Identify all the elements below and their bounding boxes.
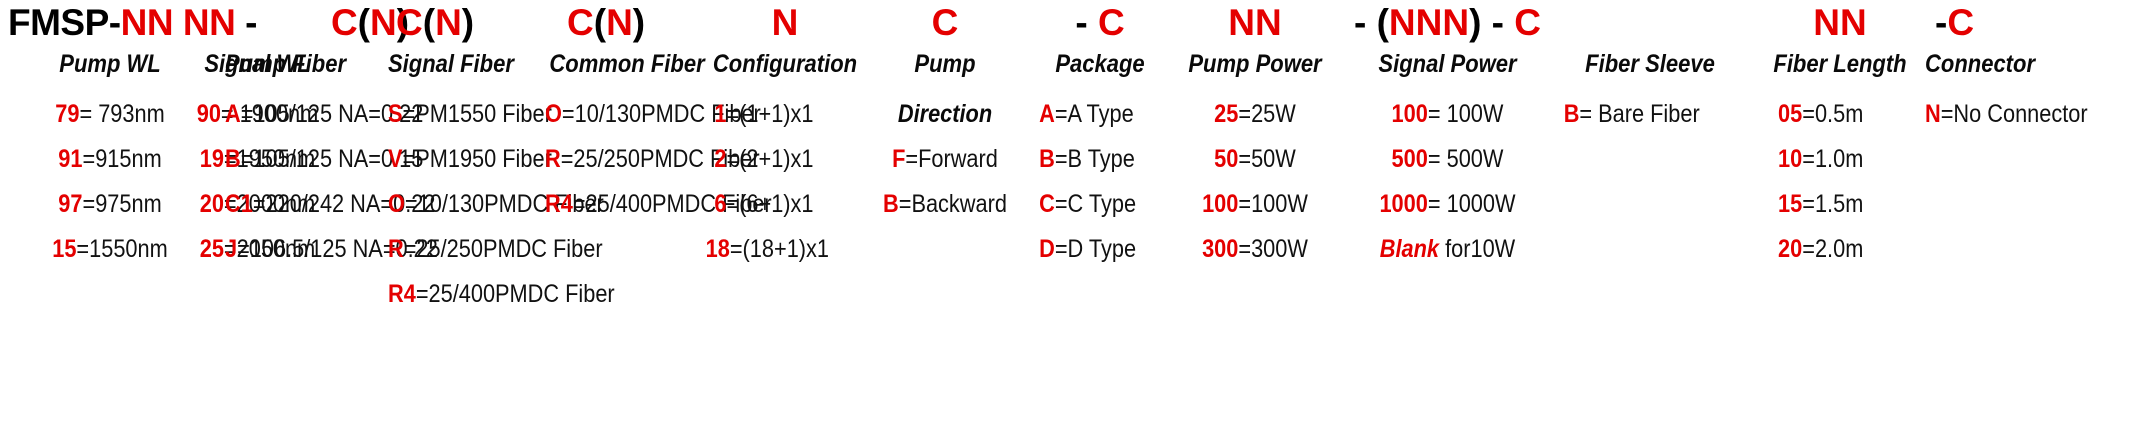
code-connector: -C (1925, 2, 2139, 44)
column-pump: C Pump Direction F=Forward B=Backward (855, 0, 1035, 427)
option-row[interactable]: 97=975nm (40, 182, 179, 227)
option-row[interactable]: 05=0.5m (1745, 92, 1910, 137)
option-row[interactable]: 100= 100W (1354, 92, 1541, 137)
options-connector: N=No Connector (1925, 92, 2139, 137)
option-row[interactable]: 15=1.5m (1745, 182, 1910, 227)
header-fiber-length: Fiber Length (1756, 50, 1923, 78)
part-number-ordering-chart: FMSP-NN NN - Pump WL 79= 793nm 91=915nm … (0, 0, 2139, 427)
options-pump-wl: 79= 793nm 91=915nm 97=975nm 15=1550nm (30, 92, 190, 272)
options-signal-power: 100= 100W 500= 500W 1000= 1000W Blank fo… (1340, 92, 1555, 272)
options-package: A=A Type B=B Type C=C Type D=D Type (1020, 92, 1180, 272)
header-pump: Pump (866, 50, 1024, 78)
column-pump-wl: Pump WL 79= 793nm 91=915nm 97=975nm 15=1… (30, 0, 190, 427)
header-pump-power: Pump Power (1176, 50, 1334, 78)
option-row[interactable]: F=Forward (867, 137, 1024, 182)
option-row[interactable]: A=A Type (1020, 92, 1159, 137)
code-pump-power: NN (1165, 2, 1345, 44)
header-connector: Connector (1925, 50, 2113, 78)
option-row[interactable]: 91=915nm (40, 137, 179, 182)
header-package: Package (1030, 50, 1171, 78)
option-row[interactable]: B= Bare Fiber (1555, 92, 1720, 137)
code-package: - C (1020, 2, 1180, 44)
options-fiber-length: 05=0.5m 10=1.0m 15=1.5m 20=2.0m (1745, 92, 1935, 272)
option-row[interactable]: 25=25W (1177, 92, 1334, 137)
option-row[interactable]: 20=2.0m (1745, 227, 1910, 272)
options-pump: Direction F=Forward B=Backward (855, 92, 1035, 227)
option-row[interactable]: 79= 793nm (40, 92, 179, 137)
option-row[interactable]: 300=300W (1177, 227, 1334, 272)
options-fiber-sleeve: B= Bare Fiber (1555, 92, 1745, 137)
option-row[interactable]: B=B Type (1020, 137, 1159, 182)
options-pump-power: 25=25W 50=50W 100=100W 300=300W (1165, 92, 1345, 272)
option-row[interactable]: B=Backward (867, 182, 1024, 227)
code-configuration: N (690, 2, 880, 44)
column-connector: -C Connector N=No Connector (1925, 0, 2139, 427)
header-pump-wl: Pump WL (40, 50, 181, 78)
option-row[interactable]: 1000= 1000W (1354, 182, 1541, 227)
option-row[interactable]: N=No Connector (1925, 92, 2111, 137)
option-row[interactable]: 18=(18+1)x1 (690, 227, 855, 272)
option-row[interactable]: 10=1.0m (1745, 137, 1910, 182)
option-row[interactable]: 15=1550nm (40, 227, 179, 272)
option-row[interactable]: 500= 500W (1354, 137, 1541, 182)
header-signal-power: Signal Power (1353, 50, 1542, 78)
option-row[interactable]: 2=(2+1)x1 (690, 137, 855, 182)
option-row-blank[interactable]: Blank for10W (1354, 227, 1541, 272)
header-fiber-sleeve: Fiber Sleeve (1566, 50, 1733, 78)
column-configuration: N Configuration 1=(1+1)x1 2=(2+1)x1 6=(6… (690, 0, 880, 427)
option-row[interactable]: 6=(6+1)x1 (690, 182, 855, 227)
options-configuration: 1=(1+1)x1 2=(2+1)x1 6=(6+1)x1 18=(18+1)x… (690, 92, 880, 272)
header-configuration: Configuration (701, 50, 868, 78)
column-package: - C Package A=A Type B=B Type C=C Type D… (1020, 0, 1180, 427)
column-signal-power: - (NNN) - C Signal Power 100= 100W 500= … (1340, 0, 1555, 427)
column-fiber-sleeve: Fiber Sleeve B= Bare Fiber (1555, 0, 1745, 427)
column-pump-power: NN Pump Power 25=25W 50=50W 100=100W 300… (1165, 0, 1345, 427)
code-signal-power: - (NNN) - C (1340, 2, 1555, 44)
option-row[interactable]: 1=(1+1)x1 (690, 92, 855, 137)
option-row[interactable]: 50=50W (1177, 137, 1334, 182)
option-row[interactable]: 100=100W (1177, 182, 1334, 227)
option-row-direction: Direction (867, 92, 1024, 137)
code-fiber-length: NN (1745, 2, 1935, 44)
column-fiber-length: NN Fiber Length 05=0.5m 10=1.0m 15=1.5m … (1745, 0, 1935, 427)
option-row[interactable]: C=C Type (1020, 182, 1159, 227)
option-row[interactable]: D=D Type (1020, 227, 1159, 272)
code-pump: C (855, 2, 1035, 44)
